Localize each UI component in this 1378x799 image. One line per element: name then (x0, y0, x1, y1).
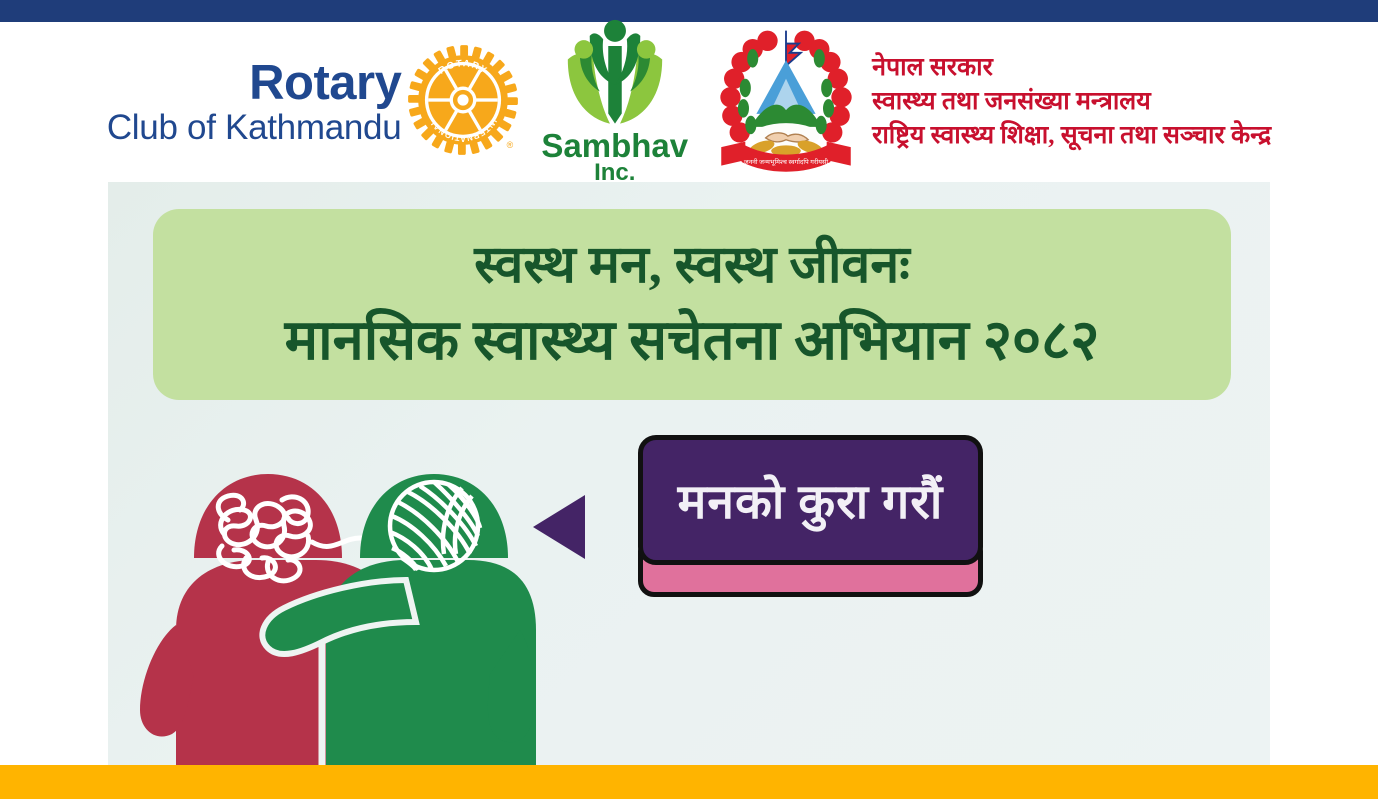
rotary-club-name: Club of Kathmandu (107, 110, 402, 145)
svg-text:जननी जन्मभूमिश्च स्वर्गादपि गर: जननी जन्मभूमिश्च स्वर्गादपि गरीयसी (744, 157, 828, 165)
top-accent-bar (0, 0, 1378, 22)
nepal-government-logo: जननी जन्मभूमिश्च स्वर्गादपि गरीयसी नेपाल… (712, 25, 1271, 180)
speech-bubble-tail (533, 495, 585, 559)
campaign-title-banner: स्वस्थ मन, स्वस्थ जीवनः मानसिक स्वास्थ्य… (153, 209, 1231, 400)
rotary-club-logo: Rotary Club of Kathmandu (107, 44, 520, 161)
rotary-name: Rotary (107, 59, 402, 108)
two-people-illustration (116, 430, 536, 765)
government-text-block: नेपाल सरकार स्वास्थ्य तथा जनसंख्या मन्त्… (872, 51, 1271, 152)
rotary-wordmark: Rotary Club of Kathmandu (107, 59, 402, 145)
nepal-emblem-icon: जननी जन्मभूमिश्च स्वर्गादपि गरीयसी (712, 25, 860, 180)
sambhav-name: Sambhav (541, 130, 688, 161)
logo-header: Rotary Club of Kathmandu (0, 22, 1378, 182)
campaign-poster-panel: स्वस्थ मन, स्वस्थ जीवनः मानसिक स्वास्थ्य… (108, 182, 1270, 765)
campaign-title-line-1: स्वस्थ मन, स्वस्थ जीवनः (474, 233, 909, 298)
sambhav-logo: Sambhav Inc. (541, 19, 688, 185)
speech-bubble-text: मनको कुरा गरौं (678, 468, 944, 533)
govt-line-1: नेपाल सरकार (872, 51, 1271, 85)
speech-bubble-body: मनको कुरा गरौं (638, 435, 983, 565)
bottom-accent-bar (0, 765, 1378, 799)
govt-line-3: राष्ट्रिय स्वास्थ्य शिक्षा, सूचना तथा सञ… (872, 119, 1271, 153)
sambhav-figure-icon (556, 19, 674, 132)
govt-line-2: स्वास्थ्य तथा जनसंख्या मन्त्रालय (872, 85, 1271, 119)
campaign-title-line-2: मानसिक स्वास्थ्य सचेतना अभियान २०८२ (285, 306, 1100, 376)
rotary-wheel-icon: ROTARY INTERNATIONAL ® (407, 44, 519, 161)
registered-mark: ® (507, 140, 514, 150)
speech-bubble: मनको कुरा गरौं (533, 435, 983, 597)
